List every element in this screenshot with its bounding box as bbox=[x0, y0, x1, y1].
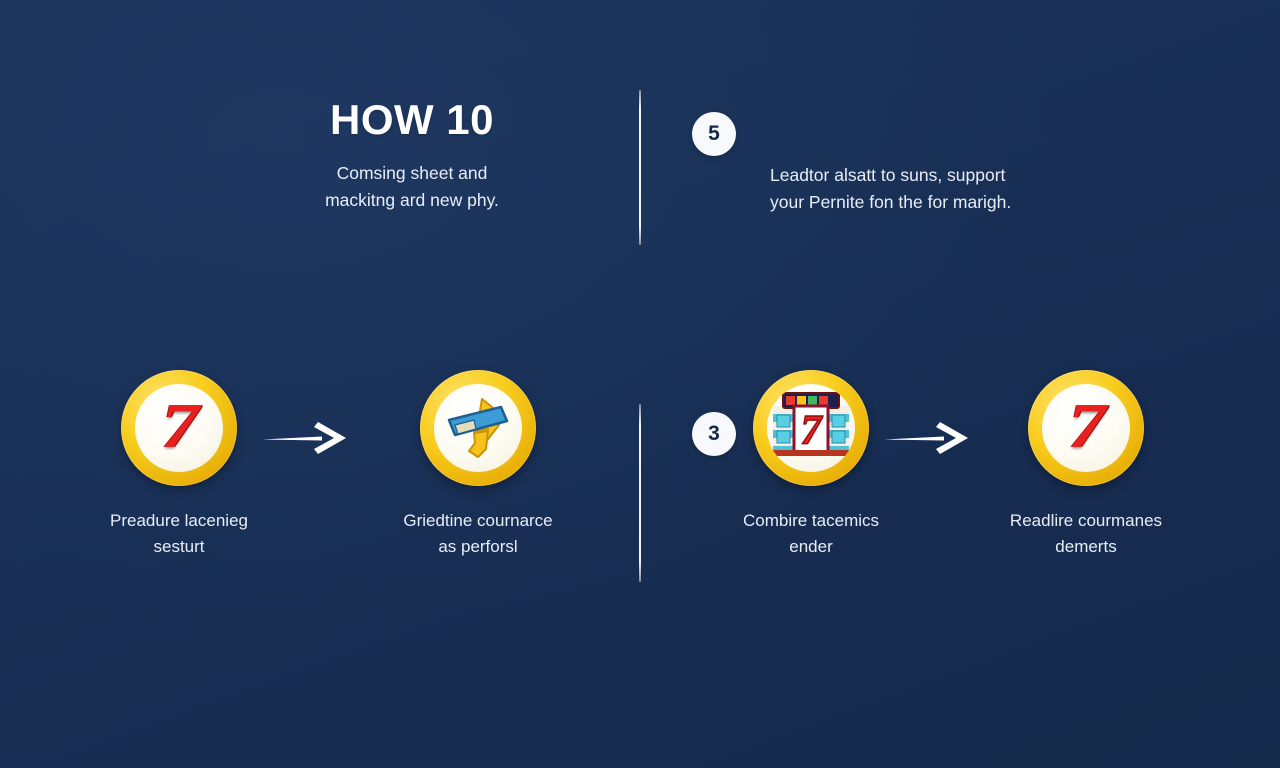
step-caption-4-line-2: demerts bbox=[1055, 537, 1116, 556]
header-right-line-1: Leadtor alsatt to suns, support bbox=[770, 165, 1005, 185]
page-subtitle-line-2: mackitng ard new phy. bbox=[325, 190, 499, 210]
step-caption-4: Readlire courmanes demerts bbox=[986, 508, 1186, 561]
page-subtitle: Comsing sheet and mackitng ard new phy. bbox=[247, 160, 577, 214]
step-caption-1-line-2: sesturt bbox=[153, 537, 204, 556]
step-caption-1: Preadure lacenieg sesturt bbox=[79, 508, 279, 561]
slot-machine-wrap: 7 bbox=[767, 384, 855, 472]
steps-row: 7 Preadure lacenieg sesturt bbox=[0, 370, 1280, 610]
step-item-3[interactable]: 7 Combire tacemics ender bbox=[711, 370, 911, 561]
step-caption-3-line-2: ender bbox=[789, 537, 832, 556]
step-item-2[interactable]: Griedtine cournarce as perforsl bbox=[378, 370, 578, 561]
step-badge-5: 5 bbox=[692, 112, 736, 156]
crossed-arrows-glyph bbox=[441, 391, 515, 465]
coin-inner-face: 7 bbox=[1042, 384, 1130, 472]
step-badge-3: 3 bbox=[692, 412, 736, 456]
arrow-right-icon-1 bbox=[260, 416, 350, 460]
crossed-arrows-coin-icon bbox=[420, 370, 536, 486]
lucky-seven-coin-icon: 7 bbox=[1028, 370, 1144, 486]
seven-glyph: 7 bbox=[161, 394, 196, 458]
slot-machine-glyph: 7 bbox=[771, 388, 851, 468]
step-caption-1-line-1: Preadure lacenieg bbox=[110, 511, 248, 530]
coin-inner-face: 7 bbox=[767, 384, 855, 472]
infographic-canvas: HOW 10 Comsing sheet and mackitng ard ne… bbox=[0, 0, 1280, 768]
coin-inner-face: 7 bbox=[135, 384, 223, 472]
arrow-right-glyph bbox=[260, 416, 350, 460]
svg-text:7: 7 bbox=[801, 408, 824, 454]
header-right-line-2: your Pernite fon the for marigh. bbox=[770, 192, 1011, 212]
lucky-seven-coin-icon: 7 bbox=[121, 370, 237, 486]
step-caption-3: Combire tacemics ender bbox=[711, 508, 911, 561]
header-left-block: HOW 10 Comsing sheet and mackitng ard ne… bbox=[222, 98, 602, 214]
coin-inner-face bbox=[434, 384, 522, 472]
slot-machine-coin-icon: 7 bbox=[753, 370, 869, 486]
step-caption-2-line-1: Griedtine cournarce bbox=[403, 511, 552, 530]
header-right-block: 5 Leadtor alsatt to suns, support your P… bbox=[692, 112, 1162, 156]
vertical-divider-top bbox=[639, 90, 641, 245]
header-right-description: Leadtor alsatt to suns, support your Per… bbox=[770, 162, 1070, 216]
arrow-right-glyph bbox=[882, 416, 972, 460]
seven-glyph: 7 bbox=[1068, 394, 1103, 458]
page-subtitle-line-1: Comsing sheet and bbox=[337, 163, 488, 183]
step-caption-2: Griedtine cournarce as perforsl bbox=[378, 508, 578, 561]
step-item-1[interactable]: 7 Preadure lacenieg sesturt bbox=[79, 370, 279, 561]
step-caption-3-line-1: Combire tacemics bbox=[743, 511, 879, 530]
step-caption-4-line-1: Readlire courmanes bbox=[1010, 511, 1162, 530]
arrow-right-icon-2 bbox=[882, 416, 972, 460]
step-caption-2-line-2: as perforsl bbox=[438, 537, 517, 556]
step-item-4[interactable]: 7 Readlire courmanes demerts bbox=[986, 370, 1186, 561]
page-title: HOW 10 bbox=[222, 98, 602, 142]
